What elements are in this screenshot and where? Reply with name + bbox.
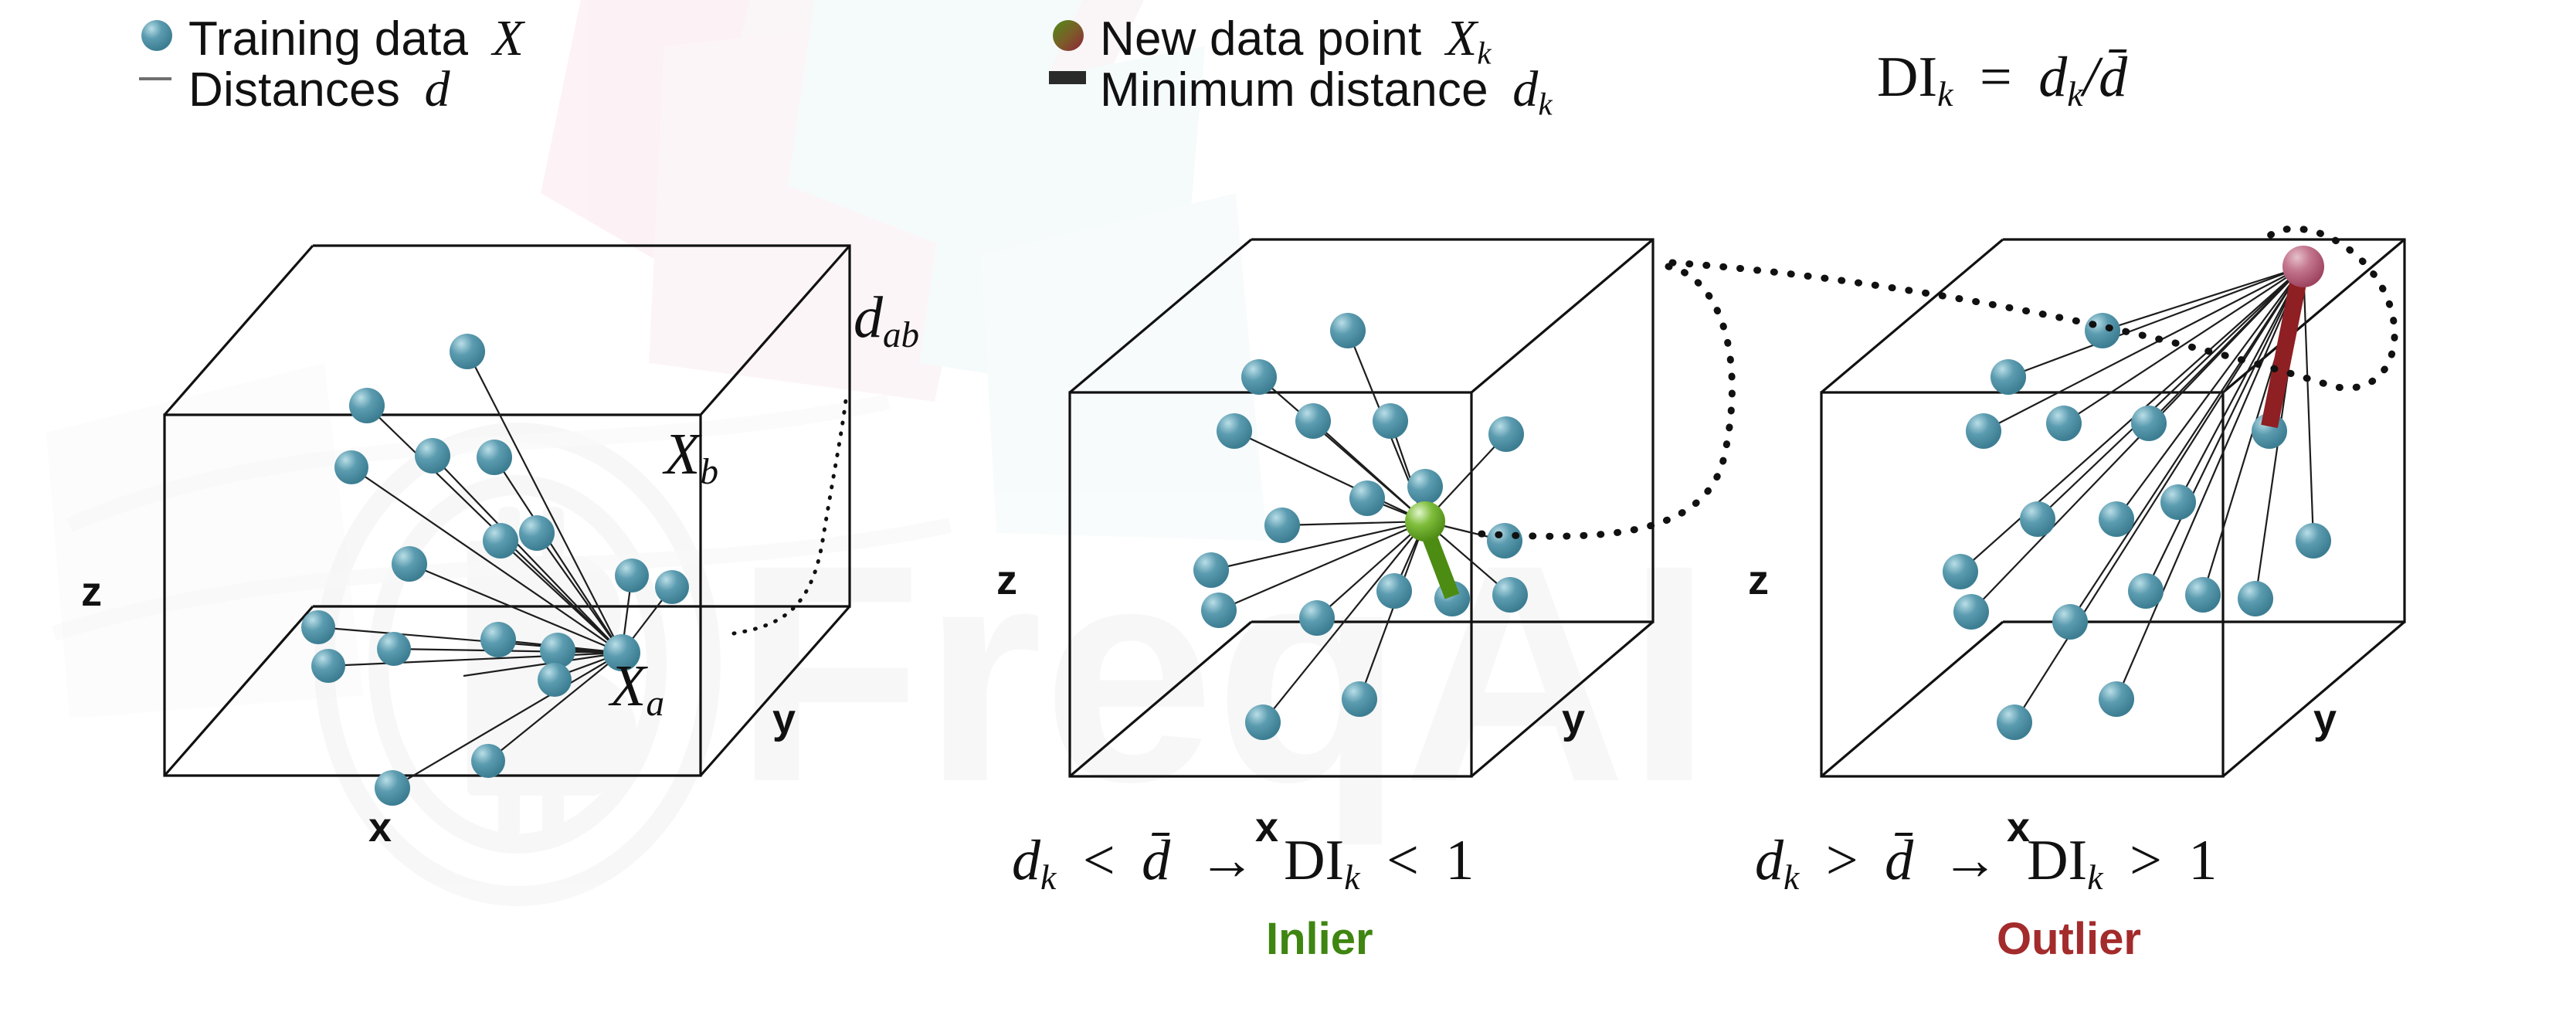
axis-label-z-inlier: z (996, 556, 1017, 604)
verdict-outlier: Outlier (1997, 913, 2141, 965)
caption-outlier-math: dk > d̄ → DIk > 1 (1755, 828, 2217, 898)
distance-rays-outlier (1960, 267, 2313, 722)
panel-training (165, 246, 850, 806)
dk-leader-curves (1468, 229, 2394, 536)
axis-label-x-training: x (368, 803, 392, 851)
axis-label-y-inlier: y (1562, 695, 1585, 743)
d-ab-leader-curve (734, 400, 846, 633)
figure-canvas: FreqAI Training data X Distances d New d… (0, 0, 2576, 1022)
axis-label-y-outlier: y (2313, 695, 2337, 743)
dk-leader-to-inlier (1468, 267, 1732, 536)
axis-label-z-training: z (81, 568, 102, 616)
training-points-inlier (1193, 313, 1528, 740)
focus-point-xk-inlier (1405, 501, 1445, 542)
cube-wireframe-training (165, 246, 850, 776)
axis-label-y-training: y (772, 695, 796, 743)
annotation-x-a: Xa (610, 653, 664, 725)
annotation-x-b: Xb (664, 421, 718, 493)
caption-inlier-math: dk < d̄ → DIk < 1 (1012, 828, 1474, 898)
axis-label-z-outlier: z (1748, 556, 1769, 604)
annotation-d-ab: dab (854, 284, 919, 356)
verdict-inlier: Inlier (1266, 913, 1373, 965)
focus-point-xk-outlier (2282, 246, 2324, 287)
